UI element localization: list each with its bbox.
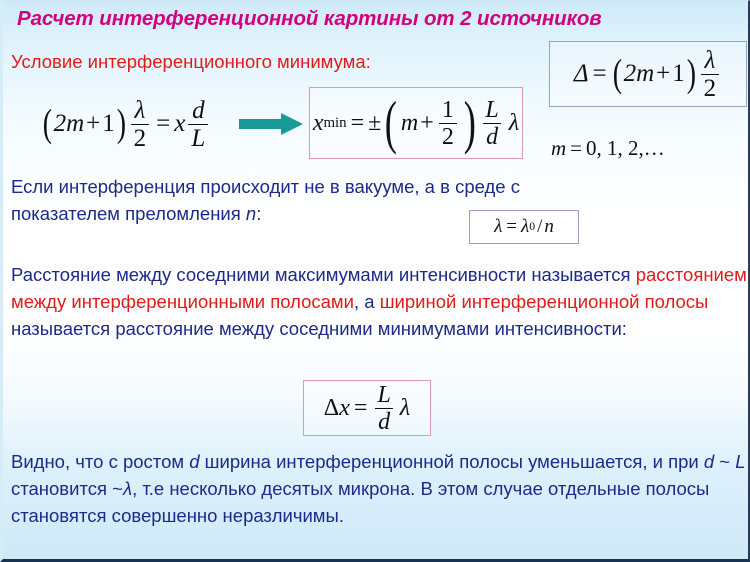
variable-m: m: [401, 110, 418, 137]
plus-minus-sign: ±: [368, 110, 381, 137]
fraction-d-over-L: d L: [188, 98, 208, 151]
paren-open: (: [42, 110, 51, 138]
section-headline: Условие интерференционного минимума:: [11, 51, 371, 73]
paragraph-distance-definitions: Расстояние между соседними максимумами и…: [11, 261, 747, 342]
paren-close: ): [117, 110, 126, 138]
fraction-lambda-over-two: λ 2: [131, 98, 150, 151]
slash-sign: /: [537, 216, 542, 238]
variable-n: n: [544, 216, 554, 238]
fraction-numerator: 1: [439, 98, 457, 123]
equation-delta-box: Δ = ( 2m + 1 ) λ 2: [549, 41, 747, 107]
equation-m-values: m = 0, 1, 2,…: [551, 131, 741, 165]
distance-text-part1: Расстояние между соседними максимумами и…: [11, 264, 636, 285]
equals-sign: =: [570, 136, 582, 161]
page-title: Расчет интерференционной картины от 2 ис…: [17, 7, 743, 31]
term-one: 1: [102, 110, 115, 138]
fraction-L-over-d: L d: [482, 98, 501, 149]
equals-sign: =: [593, 60, 607, 88]
distance-text-part2: , а: [354, 291, 380, 312]
subscript-zero: 0: [529, 220, 535, 234]
symbol-lambda: λ: [400, 395, 410, 422]
variable-n: n: [246, 203, 256, 224]
m-values-expression: m = 0, 1, 2,…: [551, 136, 665, 161]
distance-text-part3: называется расстояние между соседними ми…: [11, 318, 627, 339]
equation-fringe-width: Δx = L d λ: [324, 383, 410, 434]
paragraph-medium: Если интерференция происходит не в вакуу…: [11, 173, 531, 227]
fraction-numerator: λ: [701, 48, 718, 74]
equation-left-container: ( 2m + 1 ) λ 2 = x d L: [11, 93, 241, 155]
fraction-one-half: 1 2: [439, 98, 457, 149]
medium-text-part1: Если интерференция происходит не в вакуу…: [11, 176, 520, 224]
variable-x: x: [313, 110, 324, 137]
fraction-denominator: L: [188, 124, 208, 151]
term-two-m: 2m: [54, 110, 85, 138]
symbol-delta: Δ: [574, 60, 589, 88]
fraction-denominator: 2: [439, 123, 457, 149]
symbol-lambda: λ: [123, 478, 132, 499]
variable-d: d: [189, 451, 199, 472]
fraction-denominator: 2: [131, 124, 150, 151]
fraction-numerator: L: [482, 98, 501, 123]
plus-sign: +: [86, 110, 100, 138]
symbol-delta: Δ: [324, 395, 339, 422]
slide-canvas: Расчет интерференционной картины от 2 ис…: [0, 0, 750, 562]
equation-fringe-width-box: Δx = L d λ: [303, 380, 431, 436]
fraction-numerator: λ: [132, 98, 149, 124]
equals-sign: =: [351, 110, 365, 137]
symbol-lambda: λ: [494, 216, 502, 238]
paren-close: ): [464, 105, 476, 141]
equation-lambda-medium-box: λ = λ0 / n: [469, 210, 579, 244]
paren-close: ): [687, 60, 696, 88]
fraction-denominator: d: [483, 123, 501, 149]
rightwards-arrow-icon: [239, 113, 303, 135]
equation-path-difference: ( 2m + 1 ) λ 2 = x d L: [41, 98, 212, 151]
conclusion-part3: ~: [714, 451, 735, 472]
fraction-lambda-over-two: λ 2: [701, 48, 720, 101]
equation-lambda-medium: λ = λ0 / n: [494, 216, 554, 238]
equals-sign: =: [156, 110, 170, 138]
term-one: 1: [672, 60, 685, 88]
fraction-L-over-d: L d: [374, 383, 393, 434]
paren-open: (: [612, 60, 621, 88]
equation-delta: Δ = ( 2m + 1 ) λ 2: [574, 48, 722, 101]
plus-sign: +: [656, 60, 670, 88]
m-value-list: 0, 1, 2,…: [586, 136, 665, 161]
term-fringe-width: шириной интерференционной полосы: [380, 291, 709, 312]
medium-text-part2: :: [256, 203, 261, 224]
subscript-min: min: [323, 115, 346, 132]
paragraph-conclusion: Видно, что с ростом d ширина интерференц…: [11, 448, 747, 529]
plus-sign: +: [420, 110, 434, 137]
term-two-m: 2m: [624, 60, 655, 88]
variable-L: L: [735, 451, 745, 472]
symbol-lambda-zero: λ: [521, 216, 529, 238]
fraction-numerator: L: [374, 383, 393, 408]
fraction-numerator: d: [189, 98, 208, 124]
variable-x: x: [339, 395, 350, 422]
equation-xmin: xmin = ± ( m + 1 2 ) L d λ: [313, 98, 519, 149]
fraction-denominator: 2: [701, 74, 720, 101]
conclusion-part1: Видно, что с ростом: [11, 451, 189, 472]
fraction-denominator: d: [375, 408, 393, 434]
conclusion-part2: ширина интерференционной полосы уменьшае…: [200, 451, 704, 472]
variable-m: m: [551, 136, 566, 161]
equation-xmin-box: xmin = ± ( m + 1 2 ) L d λ: [309, 87, 523, 159]
paren-open: (: [385, 105, 397, 141]
variable-x: x: [174, 110, 185, 138]
symbol-lambda: λ: [509, 110, 519, 137]
equals-sign: =: [354, 395, 368, 422]
equals-sign: =: [506, 216, 517, 238]
conclusion-part4: становится ~: [11, 478, 123, 499]
variable-d: d: [704, 451, 714, 472]
